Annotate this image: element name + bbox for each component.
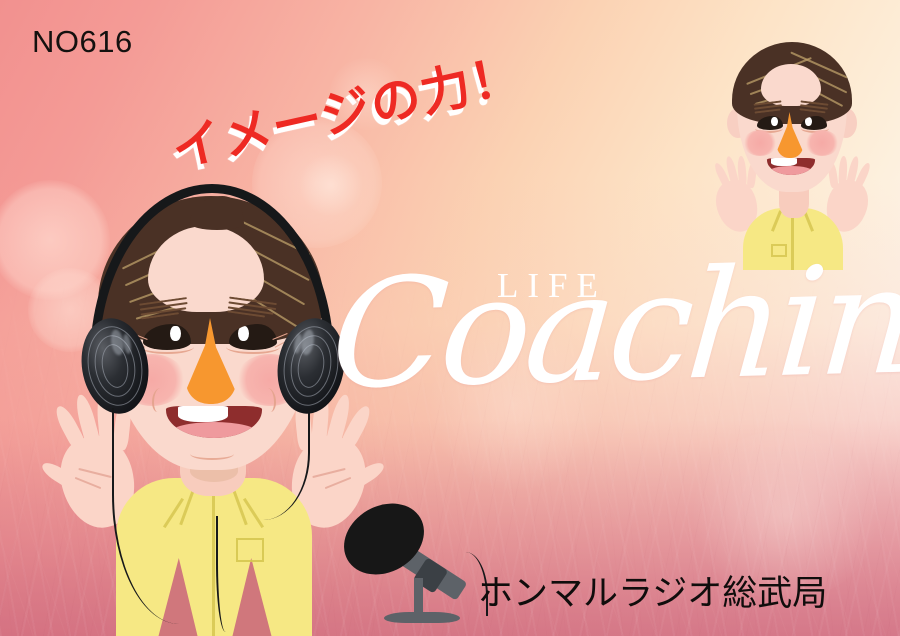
poster-canvas: NO616 イメージの力！ LIFE Coaching ホンマルラジオ総武局	[0, 0, 900, 636]
headphone-cord-join	[216, 516, 232, 632]
shirt-pocket	[236, 538, 264, 562]
mini-forehead	[761, 64, 821, 106]
station-name: ホンマルラジオ総武局	[478, 565, 827, 616]
mini-blush-left	[743, 130, 777, 156]
title-coaching: Coaching	[326, 243, 900, 410]
microphone	[336, 500, 470, 636]
mini-character-illustration	[705, 12, 880, 270]
episode-number: NO616	[32, 24, 133, 60]
microphone-base	[384, 612, 460, 623]
mini-finger	[737, 156, 747, 186]
mini-mouth	[767, 158, 815, 175]
mini-blush-right	[805, 130, 839, 156]
